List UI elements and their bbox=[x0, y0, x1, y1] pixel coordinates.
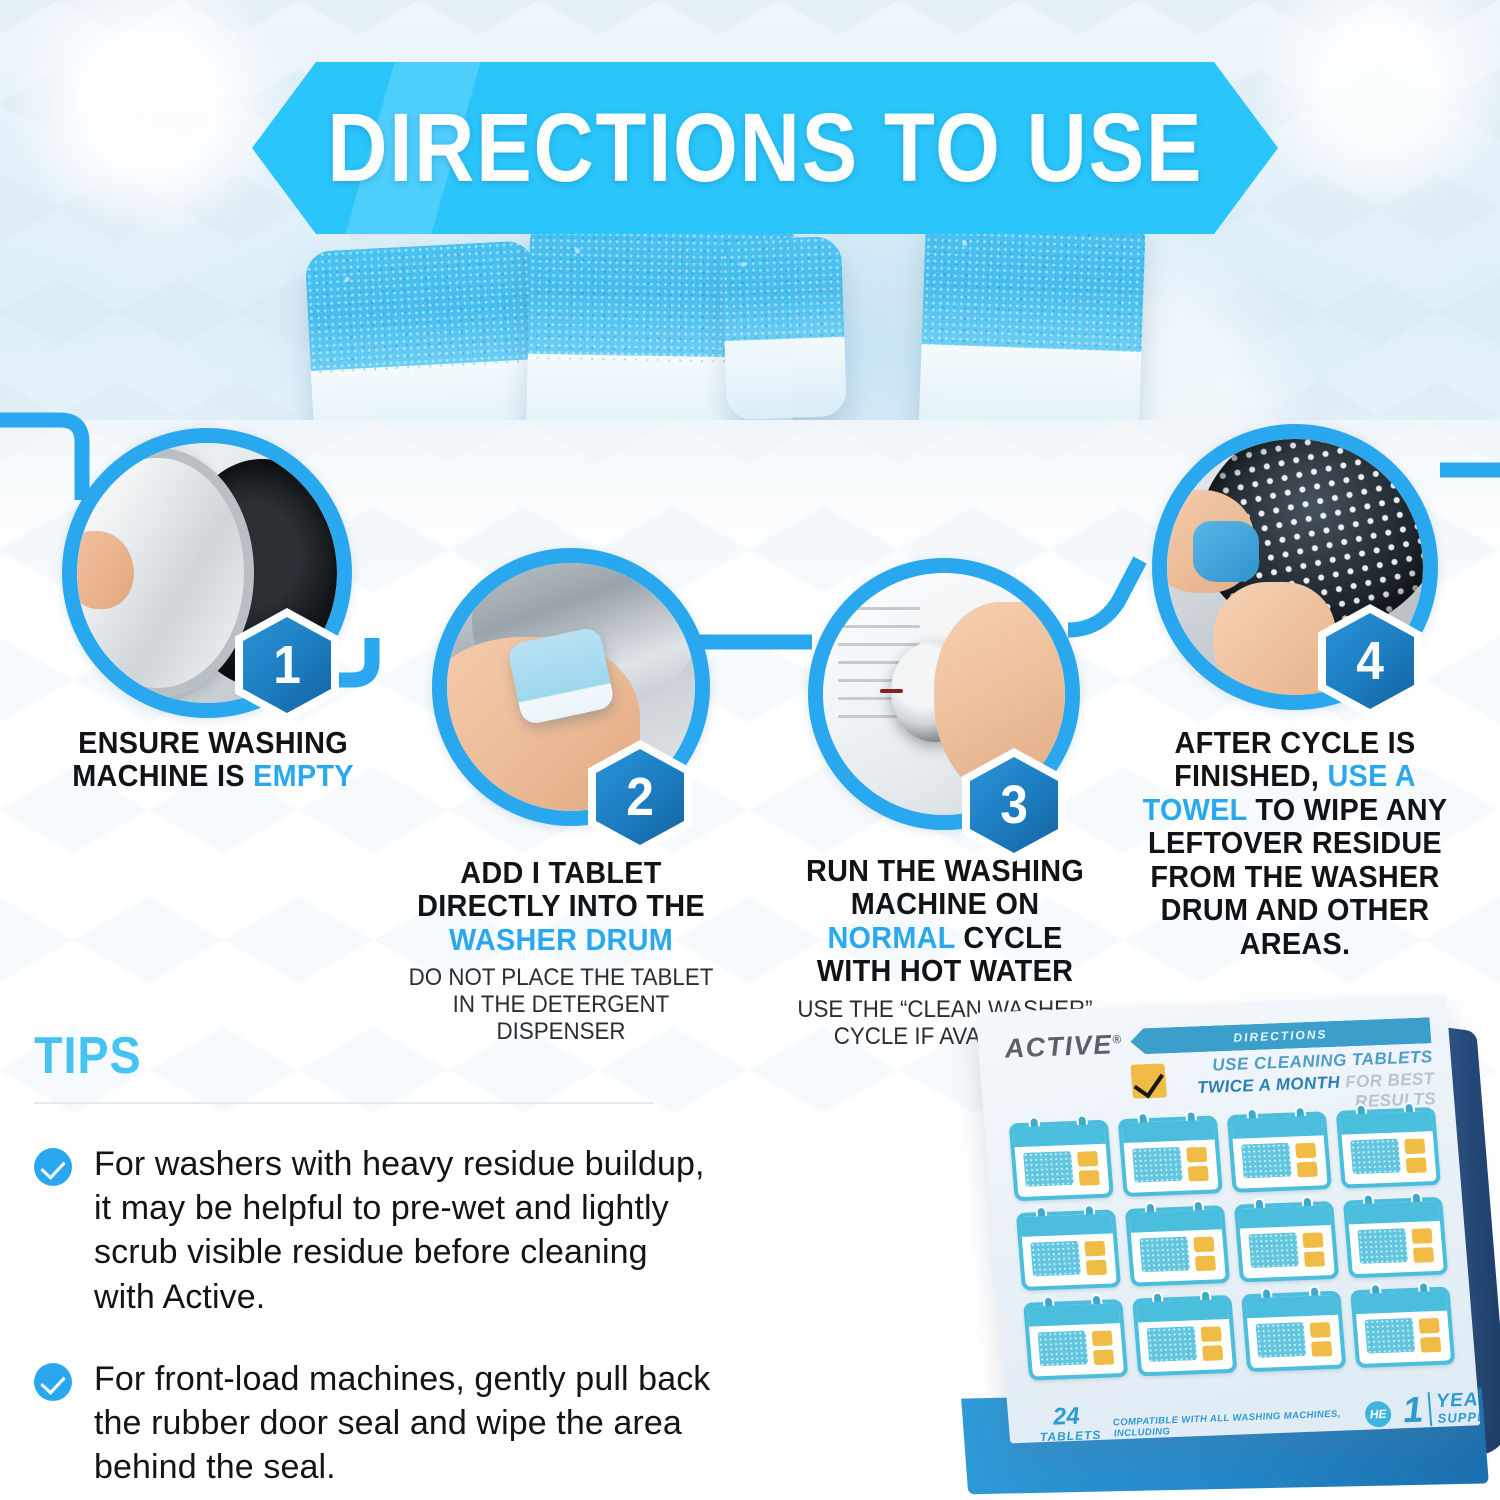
box-lid: ACTIVE® DIRECTIONS USE CLEANING TABLETS … bbox=[976, 995, 1481, 1444]
supply-divider bbox=[1428, 1392, 1433, 1426]
tablet-3 bbox=[721, 236, 847, 420]
calendar-icon bbox=[1125, 1205, 1230, 1287]
directions-banner: DIRECTIONS TO USE bbox=[252, 62, 1278, 234]
tip-text: For washers with heavy residue buildup, … bbox=[94, 1142, 714, 1319]
product-box: ACTIVE® DIRECTIONS USE CLEANING TABLETS … bbox=[905, 985, 1500, 1500]
calendar-icon bbox=[1016, 1209, 1121, 1291]
calendar-icon bbox=[1234, 1201, 1339, 1283]
calendar-icon bbox=[1009, 1120, 1114, 1202]
brand-name: ACTIVE bbox=[1003, 1030, 1113, 1064]
step-2-caption: ADD I TABLET DIRECTLY INTO THE WASHER DR… bbox=[388, 856, 734, 1046]
calendar-icon bbox=[1132, 1295, 1237, 1377]
step-1-text-highlight: EMPTY bbox=[253, 758, 354, 793]
step-1-caption: ENSURE WASHING MACHINE IS EMPTY bbox=[48, 726, 378, 793]
step-2-text-pre: ADD I TABLET DIRECTLY INTO THE bbox=[417, 855, 705, 923]
step-2-number: 2 bbox=[626, 770, 654, 824]
check-icon bbox=[34, 1363, 72, 1401]
calendar-icon bbox=[1227, 1111, 1332, 1193]
tip-text: For front-load machines, gently pull bac… bbox=[94, 1357, 714, 1490]
calendar-icon bbox=[1336, 1107, 1441, 1189]
step-3-main-text: RUN THE WASHING MACHINE ON NORMAL CYCLE … bbox=[790, 854, 1101, 988]
step-2-text-highlight: WASHER DRUM bbox=[449, 922, 673, 957]
step-3-number: 3 bbox=[1000, 778, 1028, 832]
tips-heading: TIPS bbox=[34, 1026, 646, 1086]
supply-number: 1 bbox=[1401, 1392, 1424, 1429]
calendar-icon bbox=[1118, 1115, 1223, 1197]
step-4-caption: AFTER CYCLE IS FINISHED, USE A TOWEL TO … bbox=[1122, 726, 1468, 960]
supply-word: SUPPLY bbox=[1437, 1410, 1480, 1426]
hand-shape bbox=[77, 531, 134, 609]
brand-mark: ® bbox=[1112, 1032, 1123, 1046]
towel-shape bbox=[1193, 521, 1260, 582]
supply-group: 1 YEAR SUPPLY bbox=[1401, 1389, 1480, 1428]
tips-divider bbox=[34, 1102, 654, 1104]
hand-shape-lower bbox=[1213, 582, 1336, 695]
tip-item: For front-load machines, gently pull bac… bbox=[34, 1357, 714, 1490]
directions-label: DIRECTIONS bbox=[1233, 1027, 1328, 1045]
step-3-text-pre: RUN THE WASHING MACHINE ON bbox=[806, 853, 1084, 921]
check-icon bbox=[34, 1148, 72, 1186]
calendar-grid bbox=[1009, 1107, 1456, 1381]
tip-item: For washers with heavy residue buildup, … bbox=[34, 1142, 714, 1319]
instruction-rest: FOR BEST RESULTS bbox=[1339, 1069, 1436, 1111]
instruction-strong: TWICE A MONTH bbox=[1197, 1073, 1341, 1097]
step-1-main-text: ENSURE WASHING MACHINE IS EMPTY bbox=[60, 726, 367, 793]
step-2-main-text: ADD I TABLET DIRECTLY INTO THE WASHER DR… bbox=[400, 856, 722, 956]
he-icon: HE bbox=[1364, 1401, 1392, 1428]
calendar-icon bbox=[1241, 1291, 1346, 1373]
calendar-icon bbox=[1343, 1197, 1448, 1279]
page-title: DIRECTIONS TO USE bbox=[327, 92, 1203, 204]
tablet-count: 24 bbox=[1037, 1404, 1095, 1430]
step-1-number: 1 bbox=[273, 638, 301, 692]
step-3-text-highlight: NORMAL bbox=[827, 920, 955, 955]
tips-section: TIPS For washers with heavy residue buil… bbox=[34, 1026, 714, 1489]
step-4-number: 4 bbox=[1356, 634, 1384, 688]
calendar-icon bbox=[1023, 1299, 1128, 1381]
infographic-page: DIRECTIONS TO USE 1 ENSURE WASHING MACHI… bbox=[0, 0, 1500, 1500]
step-4-main-text: AFTER CYCLE IS FINISHED, USE A TOWEL TO … bbox=[1134, 726, 1456, 960]
calendar-icon bbox=[1350, 1286, 1455, 1368]
tablet-count-group: 24 TABLETS bbox=[1037, 1404, 1096, 1443]
